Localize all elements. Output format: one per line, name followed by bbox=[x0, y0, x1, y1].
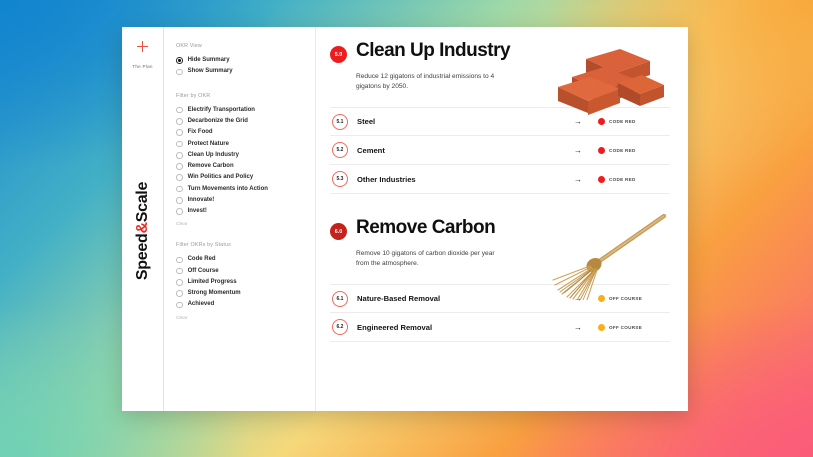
the-plan-label: The Plan bbox=[132, 64, 152, 69]
speed-and-scale-logo[interactable]: Speed&Scale bbox=[134, 181, 152, 279]
arrow-right-icon[interactable]: → bbox=[574, 294, 582, 303]
status-badge: CODE RED bbox=[598, 147, 670, 154]
status-label: OFF COURSE bbox=[609, 296, 642, 301]
status-badge: OFF COURSE bbox=[598, 295, 670, 302]
okr-description: Remove 10 gigatons of carbon dioxide per… bbox=[356, 249, 506, 268]
status-badge: CODE RED bbox=[598, 176, 670, 183]
filter-okr-option[interactable]: Decarbonize the Grid bbox=[176, 116, 303, 127]
okr-title: Clean Up Industry bbox=[356, 41, 510, 61]
okr-description: Reduce 12 gigatons of industrial emissio… bbox=[356, 72, 506, 91]
app-card: The Plan Speed&Scale OKR View Hide Summa… bbox=[122, 27, 688, 411]
okr-view-label: Show Summary bbox=[188, 68, 233, 75]
key-result-row[interactable]: 6.1Nature-Based Removal→OFF COURSE bbox=[330, 284, 670, 313]
arrow-right-icon[interactable]: → bbox=[574, 146, 582, 155]
okr-content-panel: 5.0Clean Up Industry Reduce 12 gigatons … bbox=[316, 27, 688, 411]
plus-icon bbox=[137, 41, 148, 52]
radio-button-icon[interactable] bbox=[176, 208, 183, 215]
arrow-right-icon[interactable]: → bbox=[574, 117, 582, 126]
filter-status-label: Off Course bbox=[188, 268, 219, 275]
filter-okr-option[interactable]: Electrify Transportation bbox=[176, 105, 303, 116]
key-result-number: 5.2 bbox=[332, 142, 348, 158]
radio-button-icon[interactable] bbox=[176, 268, 183, 275]
filter-okr-label: Innovate! bbox=[188, 197, 215, 204]
bricks-image bbox=[542, 43, 666, 115]
okr-view-heading: OKR View bbox=[176, 43, 303, 49]
filter-okr-option[interactable]: Innovate! bbox=[176, 195, 303, 206]
status-badge: CODE RED bbox=[598, 118, 670, 125]
key-result-name: Steel bbox=[357, 117, 574, 126]
radio-button-icon[interactable] bbox=[176, 118, 183, 125]
key-result-row[interactable]: 5.3Other Industries→CODE RED bbox=[330, 165, 670, 194]
filter-okr-option[interactable]: Fix Food bbox=[176, 127, 303, 138]
key-result-list: 5.1Steel→CODE RED5.2Cement→CODE RED5.3Ot… bbox=[330, 107, 670, 194]
status-dot-icon bbox=[598, 118, 605, 125]
filter-okr-label: Remove Carbon bbox=[188, 163, 234, 170]
clear-status-filter-link[interactable]: Clear bbox=[176, 316, 303, 321]
logo-text-speed: Speed bbox=[134, 233, 151, 280]
filter-status-label: Code Red bbox=[188, 256, 216, 263]
status-badge: OFF COURSE bbox=[598, 324, 670, 331]
filter-by-status-radio-group: Code RedOff CourseLimited ProgressStrong… bbox=[176, 254, 303, 310]
key-result-row[interactable]: 6.2Engineered Removal→OFF COURSE bbox=[330, 313, 670, 342]
key-result-list: 6.1Nature-Based Removal→OFF COURSE6.2Eng… bbox=[330, 284, 670, 342]
key-result-row[interactable]: 5.2Cement→CODE RED bbox=[330, 136, 670, 165]
status-dot-icon bbox=[598, 324, 605, 331]
filter-okr-option[interactable]: Clean Up Industry bbox=[176, 150, 303, 161]
filter-okr-label: Clean Up Industry bbox=[188, 152, 239, 159]
clear-okr-filter-link[interactable]: Clear bbox=[176, 222, 303, 227]
filter-okr-label: Win Politics and Policy bbox=[188, 174, 254, 181]
status-label: OFF COURSE bbox=[609, 325, 642, 330]
filter-panel: OKR View Hide SummaryShow Summary Filter… bbox=[164, 27, 316, 411]
status-label: CODE RED bbox=[609, 119, 636, 124]
key-result-number: 5.1 bbox=[332, 114, 348, 130]
key-result-name: Cement bbox=[357, 146, 574, 155]
okr-number-badge: 5.0 bbox=[330, 46, 347, 63]
okr-title: Remove Carbon bbox=[356, 218, 495, 238]
radio-button-icon[interactable] bbox=[176, 107, 183, 114]
filter-okr-label: Decarbonize the Grid bbox=[188, 118, 248, 125]
okr-view-radio-group: Hide SummaryShow Summary bbox=[176, 55, 303, 78]
radio-button-icon[interactable] bbox=[176, 186, 183, 193]
key-result-name: Other Industries bbox=[357, 175, 574, 184]
the-plan-link[interactable]: The Plan bbox=[122, 41, 163, 73]
okr-block: 6.0Remove Carbon bbox=[330, 218, 670, 342]
status-dot-icon bbox=[598, 147, 605, 154]
okr-view-option[interactable]: Hide Summary bbox=[176, 55, 303, 66]
key-result-row[interactable]: 5.1Steel→CODE RED bbox=[330, 107, 670, 136]
radio-button-icon[interactable] bbox=[176, 57, 183, 64]
filter-okr-label: Invest! bbox=[188, 208, 207, 215]
filter-status-option[interactable]: Code Red bbox=[176, 254, 303, 265]
okr-view-label: Hide Summary bbox=[188, 57, 230, 64]
filter-status-option[interactable]: Achieved bbox=[176, 299, 303, 310]
radio-button-icon[interactable] bbox=[176, 257, 183, 264]
arrow-right-icon[interactable]: → bbox=[574, 323, 582, 332]
filter-status-option[interactable]: Strong Momentum bbox=[176, 288, 303, 299]
key-result-number: 6.1 bbox=[332, 291, 348, 307]
okr-header: 6.0Remove Carbon bbox=[330, 218, 670, 240]
status-label: CODE RED bbox=[609, 148, 636, 153]
radio-button-icon[interactable] bbox=[176, 163, 183, 170]
filter-okr-option[interactable]: Turn Movements into Action bbox=[176, 183, 303, 194]
radio-button-icon[interactable] bbox=[176, 129, 183, 136]
status-dot-icon bbox=[598, 176, 605, 183]
logo-text-scale: Scale bbox=[134, 181, 151, 221]
radio-button-icon[interactable] bbox=[176, 69, 183, 76]
status-dot-icon bbox=[598, 295, 605, 302]
filter-by-okr-radio-group: Electrify TransportationDecarbonize the … bbox=[176, 105, 303, 218]
okr-view-option[interactable]: Show Summary bbox=[176, 66, 303, 77]
filter-okr-label: Turn Movements into Action bbox=[188, 186, 268, 193]
filter-okr-option[interactable]: Remove Carbon bbox=[176, 161, 303, 172]
radio-button-icon[interactable] bbox=[176, 152, 183, 159]
filter-status-label: Achieved bbox=[188, 301, 215, 308]
filter-status-option[interactable]: Limited Progress bbox=[176, 277, 303, 288]
key-result-name: Engineered Removal bbox=[357, 323, 574, 332]
radio-button-icon[interactable] bbox=[176, 174, 183, 181]
arrow-right-icon[interactable]: → bbox=[574, 175, 582, 184]
filter-okr-label: Fix Food bbox=[188, 129, 213, 136]
filter-okr-label: Protect Nature bbox=[188, 141, 229, 148]
radio-button-icon[interactable] bbox=[176, 197, 183, 204]
okr-block: 5.0Clean Up Industry Reduce 12 gigatons … bbox=[330, 41, 670, 194]
radio-button-icon[interactable] bbox=[176, 290, 183, 297]
status-label: CODE RED bbox=[609, 177, 636, 182]
radio-button-icon[interactable] bbox=[176, 141, 183, 148]
filter-by-okr-heading: Filter by OKR bbox=[176, 93, 303, 99]
filter-by-status-heading: Filter OKRs by Status bbox=[176, 242, 303, 248]
okr-header: 5.0Clean Up Industry bbox=[330, 41, 670, 63]
filter-status-option[interactable]: Off Course bbox=[176, 265, 303, 276]
filter-status-label: Limited Progress bbox=[188, 279, 237, 286]
key-result-number: 5.3 bbox=[332, 171, 348, 187]
filter-okr-label: Electrify Transportation bbox=[188, 107, 255, 114]
okr-number-badge: 6.0 bbox=[330, 223, 347, 240]
logo-ampersand: & bbox=[134, 222, 151, 233]
filter-okr-option[interactable]: Win Politics and Policy bbox=[176, 172, 303, 183]
key-result-name: Nature-Based Removal bbox=[357, 294, 574, 303]
filter-okr-option[interactable]: Protect Nature bbox=[176, 138, 303, 149]
key-result-number: 6.2 bbox=[332, 319, 348, 335]
brand-rail: The Plan Speed&Scale bbox=[122, 27, 164, 411]
radio-button-icon[interactable] bbox=[176, 279, 183, 286]
radio-button-icon[interactable] bbox=[176, 302, 183, 309]
filter-status-label: Strong Momentum bbox=[188, 290, 241, 297]
filter-okr-option[interactable]: Invest! bbox=[176, 206, 303, 217]
